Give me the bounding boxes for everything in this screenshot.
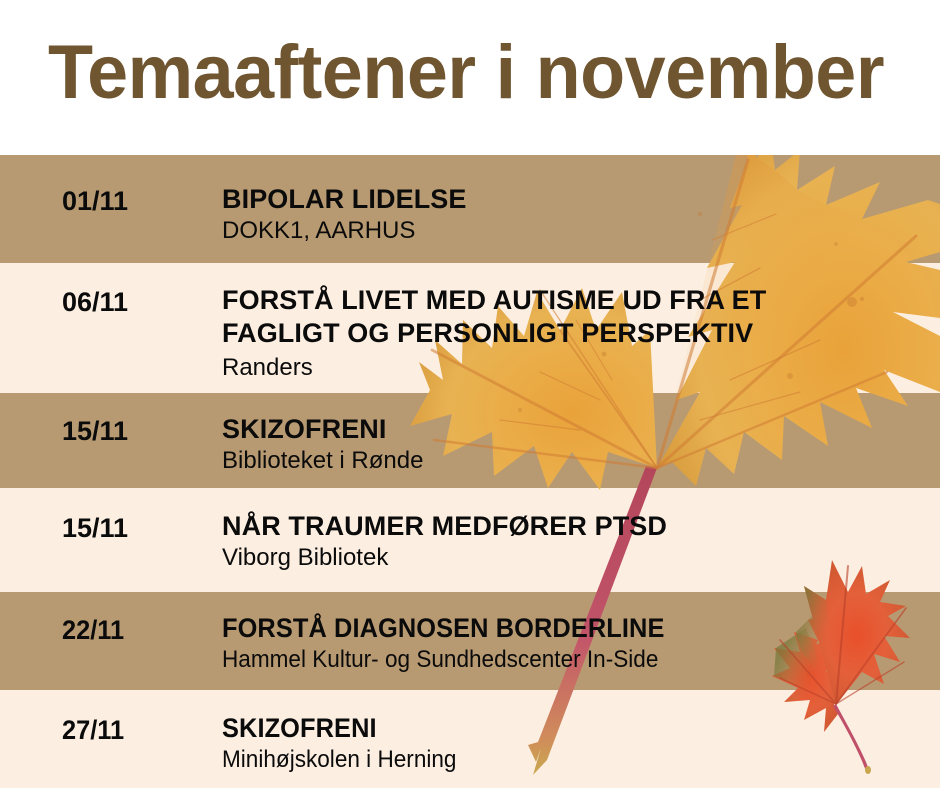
- event-date: 01/11: [62, 185, 128, 218]
- event-date: 27/11: [62, 714, 124, 747]
- event-venue: Minihøjskolen i Herning: [222, 745, 888, 775]
- event-venue: Hammel Kultur- og Sundhedscenter In-Side: [222, 645, 888, 675]
- event-title-line2: FAGLIGT OG PERSONLIGT PERSPEKTIV: [222, 317, 930, 350]
- event-title: FORSTÅ LIVET MED AUTISME UD FRA ET: [222, 284, 930, 317]
- event-title: BIPOLAR LIDELSE: [222, 183, 930, 216]
- event-body: SKIZOFRENI Biblioteket i Rønde: [222, 413, 930, 476]
- event-body: SKIZOFRENI Minihøjskolen i Herning: [222, 712, 930, 775]
- event-title: NÅR TRAUMER MEDFØRER PTSD: [222, 510, 930, 543]
- page-title: Temaaftener i november: [48, 33, 884, 113]
- event-body: BIPOLAR LIDELSE DOKK1, AARHUS: [222, 183, 930, 246]
- event-body: FORSTÅ DIAGNOSEN BORDERLINE Hammel Kultu…: [222, 612, 930, 675]
- event-date: 22/11: [62, 614, 124, 647]
- event-venue: DOKK1, AARHUS: [222, 216, 930, 246]
- schedule-row-6[interactable]: 27/11 SKIZOFRENI Minihøjskolen i Herning: [0, 690, 940, 788]
- event-date: 06/11: [62, 286, 128, 319]
- header: Temaaftener i november: [0, 0, 940, 155]
- schedule-row-4[interactable]: 15/11 NÅR TRAUMER MEDFØRER PTSD Viborg B…: [0, 488, 940, 592]
- schedule-row-3[interactable]: 15/11 SKIZOFRENI Biblioteket i Rønde: [0, 393, 940, 488]
- schedule-row-2[interactable]: 06/11 FORSTÅ LIVET MED AUTISME UD FRA ET…: [0, 263, 940, 393]
- event-venue: Viborg Bibliotek: [222, 543, 930, 573]
- schedule-row-1[interactable]: 01/11 BIPOLAR LIDELSE DOKK1, AARHUS: [0, 155, 940, 263]
- event-venue: Biblioteket i Rønde: [222, 446, 930, 476]
- event-title: SKIZOFRENI: [222, 413, 930, 446]
- event-date: 15/11: [62, 512, 128, 545]
- event-title: FORSTÅ DIAGNOSEN BORDERLINE: [222, 612, 888, 645]
- poster-canvas: Temaaftener i november 01/11 BIPOLAR LID…: [0, 0, 940, 788]
- event-body: NÅR TRAUMER MEDFØRER PTSD Viborg Bibliot…: [222, 510, 930, 573]
- event-title: SKIZOFRENI: [222, 712, 888, 745]
- schedule-row-5[interactable]: 22/11 FORSTÅ DIAGNOSEN BORDERLINE Hammel…: [0, 592, 940, 690]
- event-venue: Randers: [222, 353, 930, 383]
- event-body: FORSTÅ LIVET MED AUTISME UD FRA ET FAGLI…: [222, 284, 930, 383]
- event-date: 15/11: [62, 415, 128, 448]
